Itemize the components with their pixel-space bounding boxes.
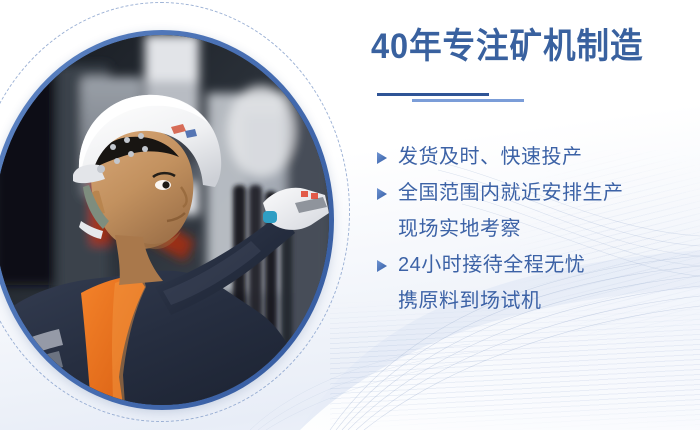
triangle-right-icon-placeholder [374,284,398,318]
list-item-label: 携原料到场试机 [398,284,542,318]
list-item-label: 现场实地考察 [398,212,521,246]
list-item-label: 全国范围内就近安排生产 [398,176,624,210]
page-title: 40年专注矿机制造 [371,25,678,69]
feature-list: 发货及时、快速投产 全国范围内就近安排生产 [374,140,700,320]
promo-banner: 40年专注矿机制造 发货及时、快速投产 [0,0,700,430]
list-item-label: 24小时接待全程无忧 [398,248,585,282]
title-divider-top [377,93,489,96]
list-item: 携原料到场试机 [374,284,700,318]
title-divider-bottom [412,99,524,102]
list-item: 24小时接待全程无忧 [374,248,700,282]
list-item-label: 发货及时、快速投产 [398,140,583,174]
triangle-right-icon-placeholder [374,212,398,246]
triangle-right-icon [374,248,398,282]
list-item: 全国范围内就近安排生产 [374,176,700,210]
list-item: 发货及时、快速投产 [374,140,700,174]
circular-photo-frame [0,8,342,416]
worker-photo [0,35,329,405]
triangle-right-icon [374,140,398,174]
list-item: 现场实地考察 [374,212,700,246]
triangle-right-icon [374,176,398,210]
banner-content: 40年专注矿机制造 发货及时、快速投产 [374,0,700,430]
